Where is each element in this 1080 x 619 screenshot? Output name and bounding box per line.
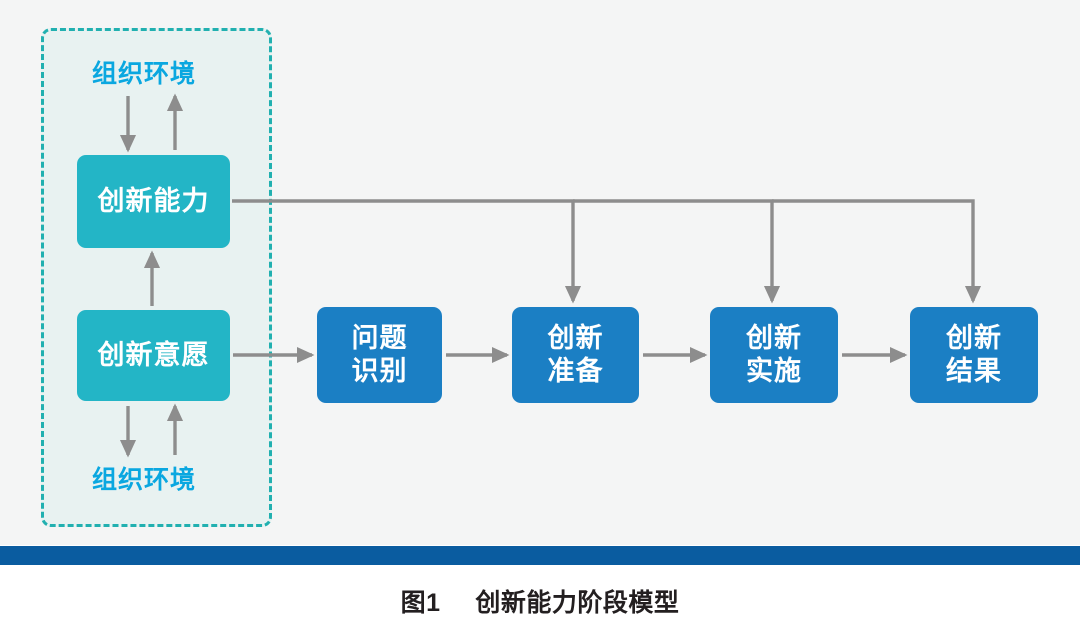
label-organizational-environment-bottom: 组织环境 (92, 460, 196, 496)
label-organizational-environment-top: 组织环境 (92, 54, 196, 90)
node-stage2-line1: 创新 (548, 323, 604, 353)
organizational-context-region (41, 28, 272, 527)
node-stage3-line1: 创新 (746, 323, 802, 353)
node-stage4-line1: 创新 (946, 323, 1002, 353)
node-stage-innovation-implementation[interactable]: 创新 实施 (710, 307, 838, 403)
node-stage1-line2: 识别 (352, 356, 408, 386)
node-stage1-label: 问题 识别 (352, 322, 408, 388)
node-stage2-line2: 准备 (548, 356, 604, 386)
accent-bar (0, 546, 1080, 565)
figure-caption-title: 创新能力阶段模型 (475, 589, 679, 617)
node-innovation-capability-label: 创新能力 (98, 185, 210, 218)
arrow-capability-to-stage3 (573, 201, 772, 301)
node-innovation-capability[interactable]: 创新能力 (77, 155, 230, 248)
node-stage4-label: 创新 结果 (946, 322, 1002, 388)
arrow-capability-to-stage4 (772, 201, 973, 301)
node-stage2-label: 创新 准备 (548, 322, 604, 388)
node-stage3-line2: 实施 (746, 356, 802, 386)
node-stage-innovation-outcome[interactable]: 创新 结果 (910, 307, 1038, 403)
node-stage1-line1: 问题 (352, 323, 408, 353)
node-stage4-line2: 结果 (946, 356, 1002, 386)
node-stage3-label: 创新 实施 (746, 322, 802, 388)
node-innovation-intention-label: 创新意愿 (98, 339, 210, 372)
diagram-canvas: 组织环境 组织环境 创新能力 创新意愿 问题 识别 创新 准备 创新 实施 (0, 0, 1080, 545)
node-innovation-intention[interactable]: 创新意愿 (77, 310, 230, 401)
arrow-capability-to-stage2 (232, 201, 573, 301)
figure-caption: 图1 创新能力阶段模型 (0, 583, 1080, 619)
figure-root: 组织环境 组织环境 创新能力 创新意愿 问题 识别 创新 准备 创新 实施 (0, 0, 1080, 619)
figure-caption-number: 图1 (401, 589, 441, 617)
node-stage-problem-identification[interactable]: 问题 识别 (317, 307, 442, 403)
node-stage-innovation-preparation[interactable]: 创新 准备 (512, 307, 639, 403)
